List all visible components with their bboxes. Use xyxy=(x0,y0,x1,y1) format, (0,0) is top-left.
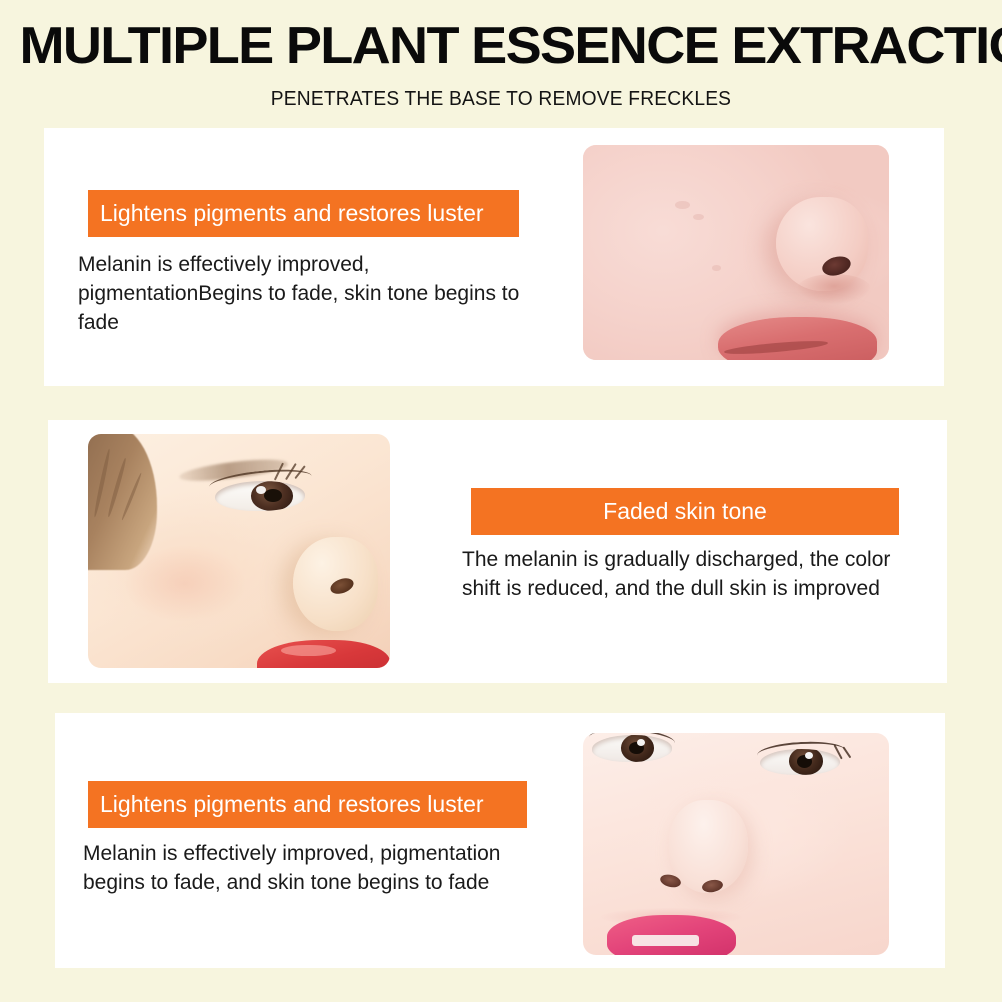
feature-card-2: Faded skin tone The melanin is gradually… xyxy=(48,420,947,683)
skin-texture-spot xyxy=(693,214,704,220)
card-1-photo xyxy=(583,145,889,360)
nose-shadow xyxy=(797,274,870,304)
frontal-face-image xyxy=(583,733,889,955)
skin-texture-spot xyxy=(675,201,690,210)
skin-closeup-image xyxy=(583,145,889,360)
card-1-heading-bar: Lightens pigments and restores luster xyxy=(88,190,519,237)
pupil-shape xyxy=(264,489,282,502)
card-3-heading-bar: Lightens pigments and restores luster xyxy=(88,781,527,828)
feature-card-1: Lightens pigments and restores luster Me… xyxy=(44,128,944,386)
cheek-blush xyxy=(124,546,245,621)
card-2-photo xyxy=(88,434,390,668)
eyelash-line-right xyxy=(757,740,847,767)
card-2-heading-bar: Faded skin tone xyxy=(471,488,899,535)
nose-shape xyxy=(669,800,749,893)
teeth-shape xyxy=(632,935,699,946)
card-3-photo xyxy=(583,733,889,955)
card-3-body-text: Melanin is effectively improved, pigment… xyxy=(83,839,563,897)
card-1-body-text: Melanin is effectively improved, pigment… xyxy=(78,250,548,337)
page-subtitle: PENETRATES THE BASE TO REMOVE FRECKLES xyxy=(20,86,982,112)
lip-highlight xyxy=(281,645,335,657)
page-header: MULTIPLE PLANT ESSENCE EXTRACTION PENETR… xyxy=(0,0,1002,128)
face-closeup-image xyxy=(88,434,390,668)
feature-card-3: Lightens pigments and restores luster Me… xyxy=(55,713,945,968)
page-title: MULTIPLE PLANT ESSENCE EXTRACTION xyxy=(19,18,982,74)
eye-glint xyxy=(256,486,266,494)
skin-texture-spot xyxy=(712,265,721,271)
card-2-body-text: The melanin is gradually discharged, the… xyxy=(462,545,932,603)
eye-shape xyxy=(215,481,306,511)
